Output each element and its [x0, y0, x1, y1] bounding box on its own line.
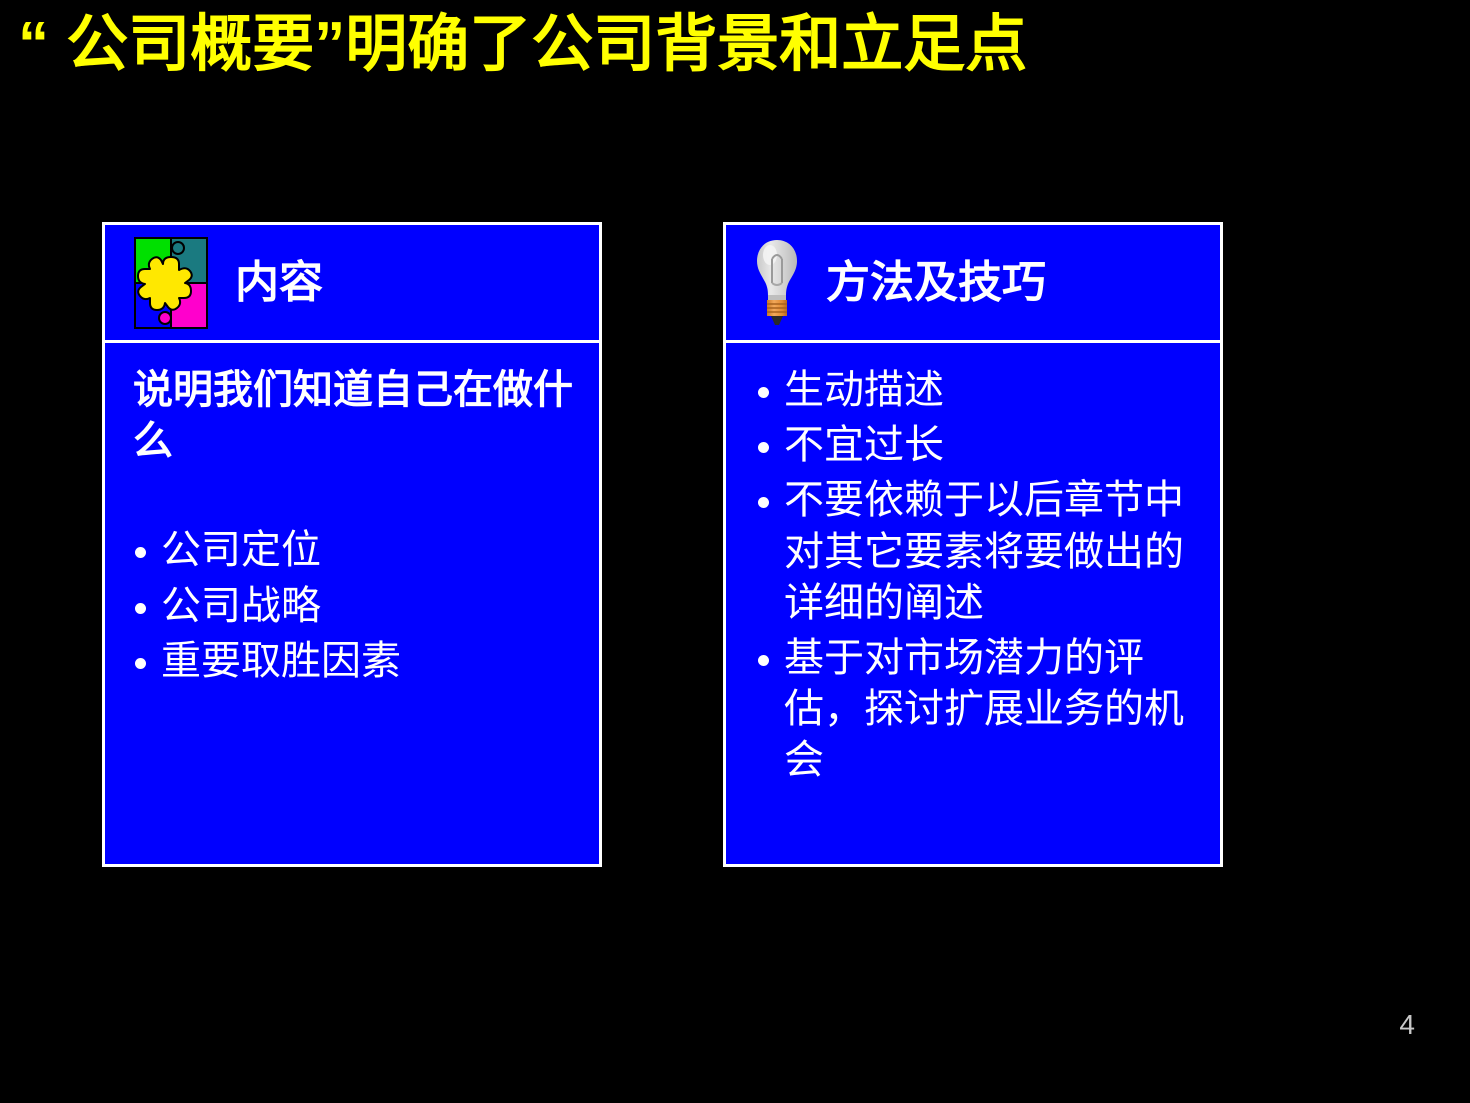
tips-bullet-list: 生动描述 不宜过长 不要依赖于以后章节中对其它要素将要做出的详细的阐述 基于对市… [754, 365, 1202, 787]
list-item: 不要依赖于以后章节中对其它要素将要做出的详细的阐述 [754, 475, 1202, 629]
list-item: 不宜过长 [754, 420, 1202, 471]
page-number: 4 [1399, 1009, 1415, 1041]
list-item: 生动描述 [754, 365, 1202, 416]
content-bullet-list: 公司定位 公司战略 重要取胜因素 [133, 525, 581, 687]
panel-tips-title: 方法及技巧 [826, 261, 1046, 305]
panel-tips-body: 生动描述 不宜过长 不要依赖于以后章节中对其它要素将要做出的详细的阐述 基于对市… [726, 343, 1220, 864]
panel-content-title: 内容 [235, 261, 323, 305]
content-heading: 说明我们知道自己在做什么 [133, 365, 581, 467]
panel-content-header: 内容 [105, 225, 599, 343]
list-item: 重要取胜因素 [133, 636, 581, 687]
list-item: 公司战略 [133, 581, 581, 632]
list-item: 基于对市场潜力的评估，探讨扩展业务的机会 [754, 633, 1202, 787]
panel-tips-header: 方法及技巧 [726, 225, 1220, 343]
panel-tips: 方法及技巧 生动描述 不宜过长 不要依赖于以后章节中对其它要素将要做出的详细的阐… [723, 222, 1223, 867]
puzzle-icon [133, 236, 209, 330]
list-item: 公司定位 [133, 525, 581, 576]
panel-content-body: 说明我们知道自己在做什么 公司定位 公司战略 重要取胜因素 [105, 343, 599, 864]
lightbulb-icon [754, 237, 800, 329]
page-title: “ 公司概要”明确了公司背景和立足点 [18, 8, 1438, 81]
panel-content: 内容 说明我们知道自己在做什么 公司定位 公司战略 重要取胜因素 [102, 222, 602, 867]
